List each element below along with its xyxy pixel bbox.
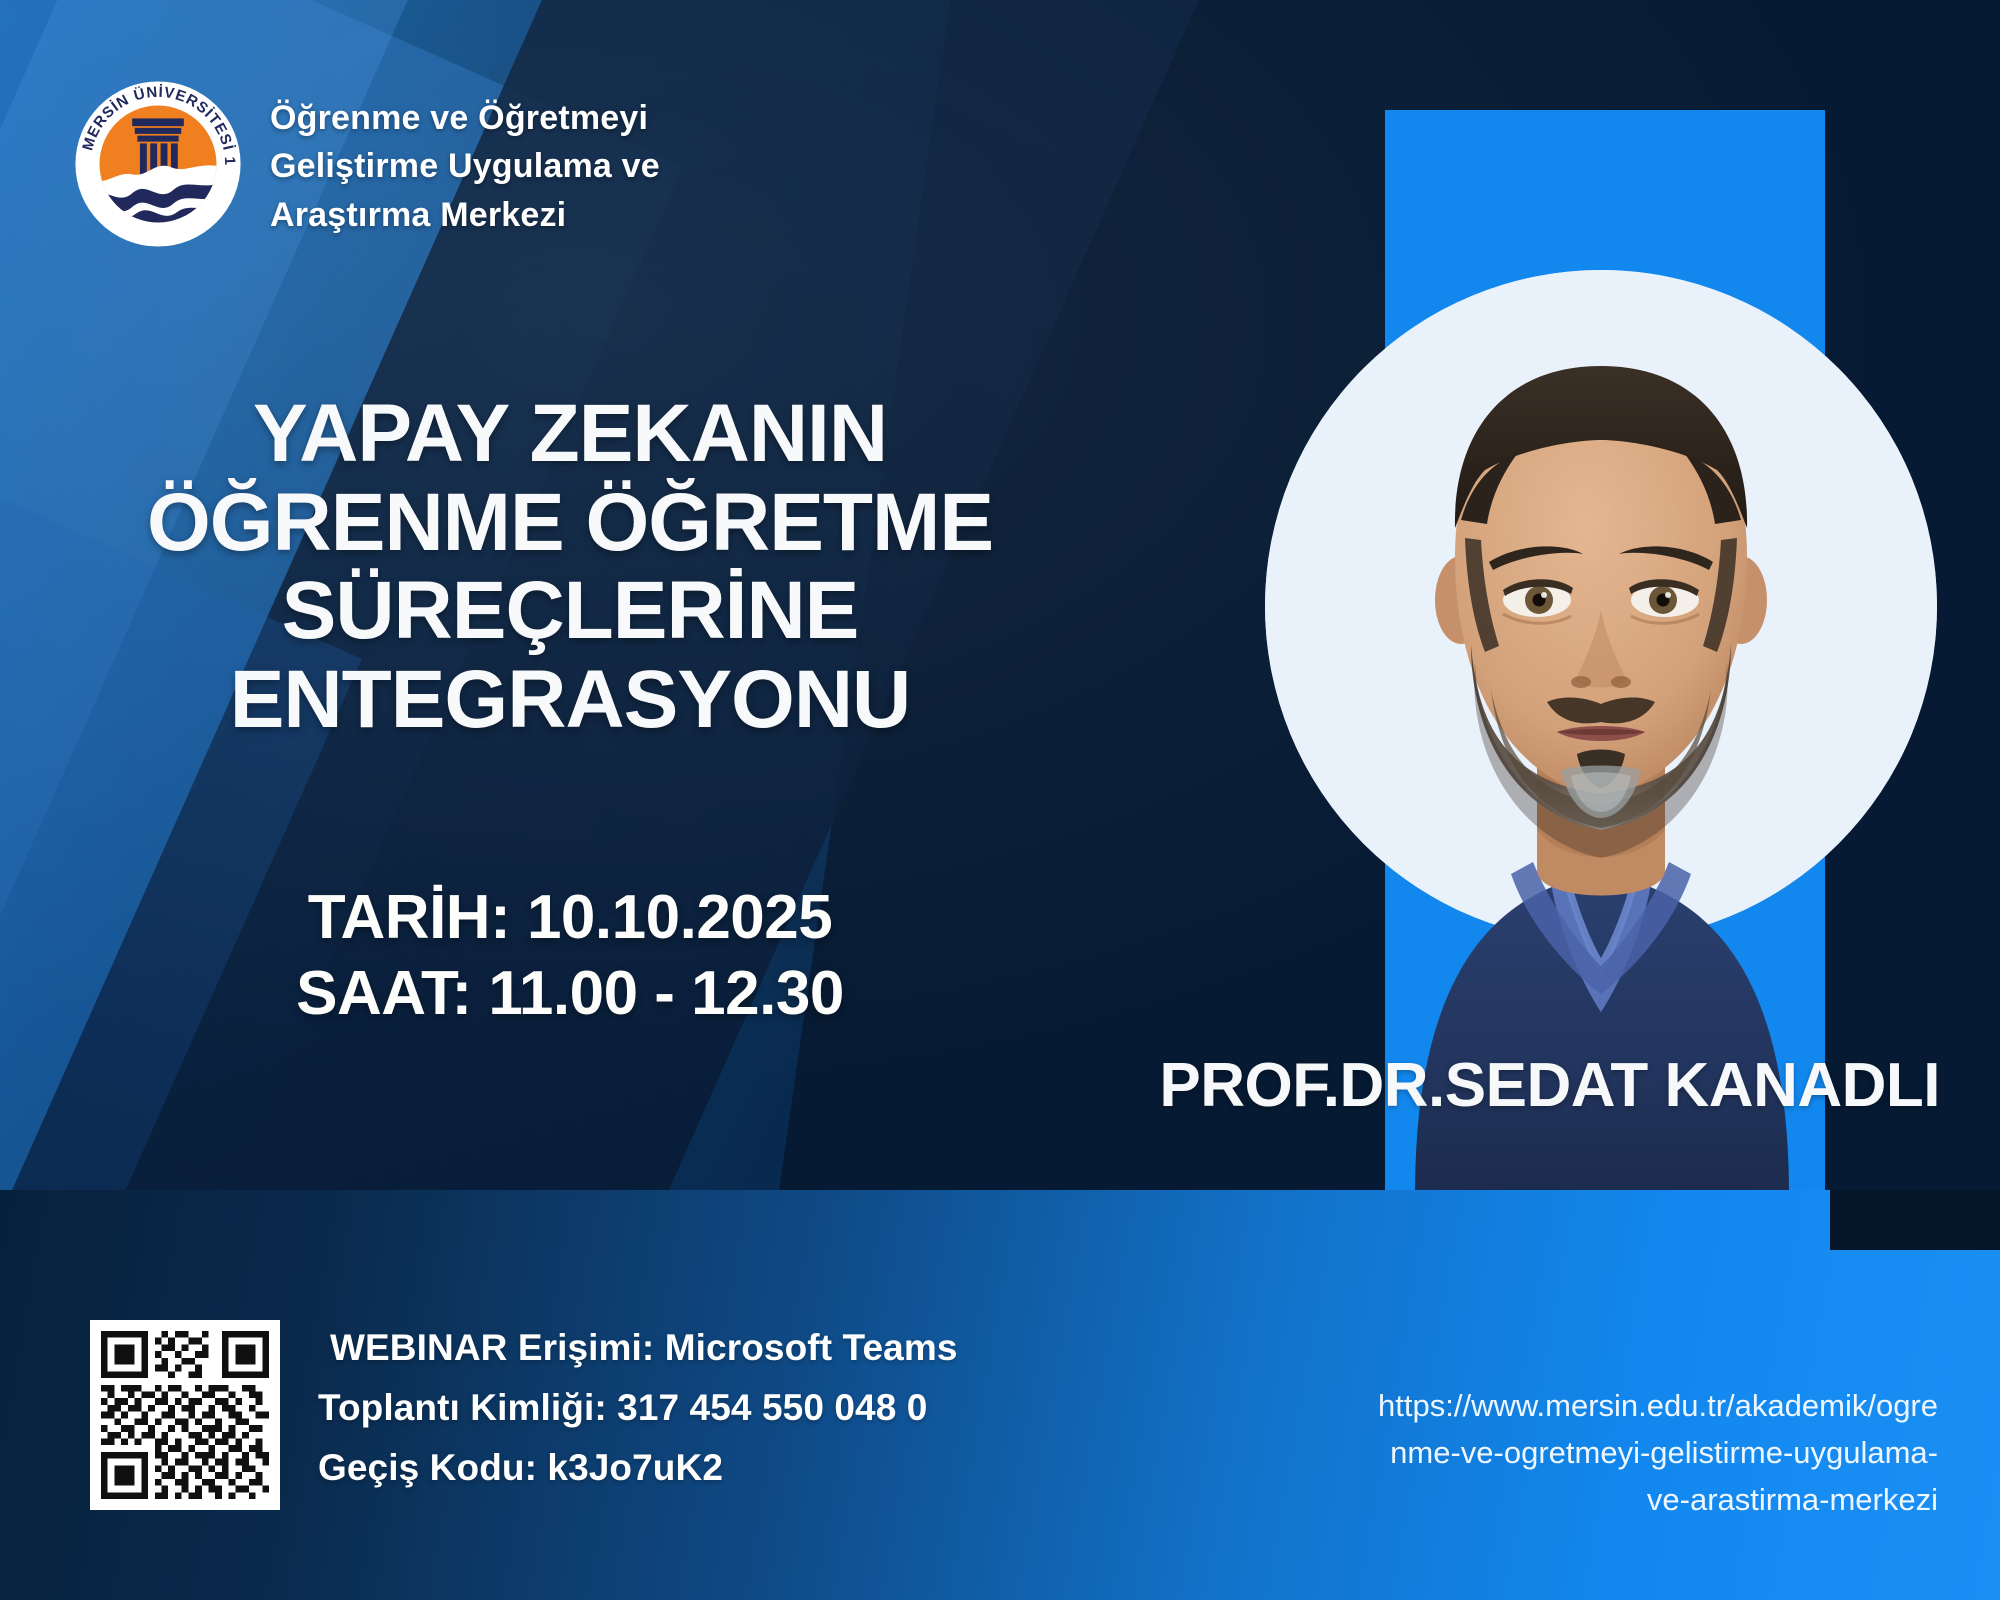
event-time: SAAT: 11.00 - 12.30 <box>60 956 1080 1032</box>
url-line-1: https://www.mersin.edu.tr/akademik/ogre <box>1198 1382 1938 1429</box>
url-line-2: nme-ve-ogretmeyi-gelistirme-uygulama- <box>1198 1429 1938 1476</box>
title-line-3: SÜREÇLERİNE <box>60 567 1080 656</box>
title-line-2: ÖĞRENME ÖĞRETME <box>60 479 1080 568</box>
center-name-line-2: Geliştirme Uygulama ve <box>270 142 660 190</box>
event-schedule: TARİH: 10.10.2025 SAAT: 11.00 - 12.30 <box>60 880 1080 1031</box>
title-line-4: ENTEGRASYONU <box>60 656 1080 745</box>
qr-code[interactable] <box>90 1320 280 1510</box>
poster-header: MERSİN ÜNİVERSİTESİ 1992 Öğrenme ve Öğre… <box>72 78 660 250</box>
university-logo-icon: MERSİN ÜNİVERSİTESİ 1992 <box>72 78 244 250</box>
center-name-line-3: Araştırma Merkezi <box>270 191 660 239</box>
teams-access-info: WEBINAR Erişimi: Microsoft Teams Toplant… <box>318 1318 958 1498</box>
webinar-poster: MERSİN ÜNİVERSİTESİ 1992 Öğrenme ve Öğre… <box>0 0 2000 1600</box>
event-date: TARİH: 10.10.2025 <box>60 880 1080 956</box>
speaker-name: PROF.DR.SEDAT KANADLI <box>1080 1050 1940 1121</box>
center-name: Öğrenme ve Öğretmeyi Geliştirme Uygulama… <box>270 78 660 239</box>
url-line-3: ve-arastirma-merkezi <box>1198 1476 1938 1523</box>
center-name-line-1: Öğrenme ve Öğretmeyi <box>270 94 660 142</box>
teams-meeting-id: Toplantı Kimliği: 317 454 550 048 0 <box>318 1378 958 1438</box>
title-line-1: YAPAY ZEKANIN <box>60 390 1080 479</box>
teams-passcode: Geçiş Kodu: k3Jo7uK2 <box>318 1438 958 1498</box>
poster-title: YAPAY ZEKANIN ÖĞRENME ÖĞRETME SÜREÇLERİN… <box>60 390 1080 744</box>
center-website-url[interactable]: https://www.mersin.edu.tr/akademik/ogre … <box>1198 1382 1938 1523</box>
teams-platform: WEBINAR Erişimi: Microsoft Teams <box>318 1318 958 1378</box>
bottom-band-dark-corner <box>1830 1190 2000 1250</box>
